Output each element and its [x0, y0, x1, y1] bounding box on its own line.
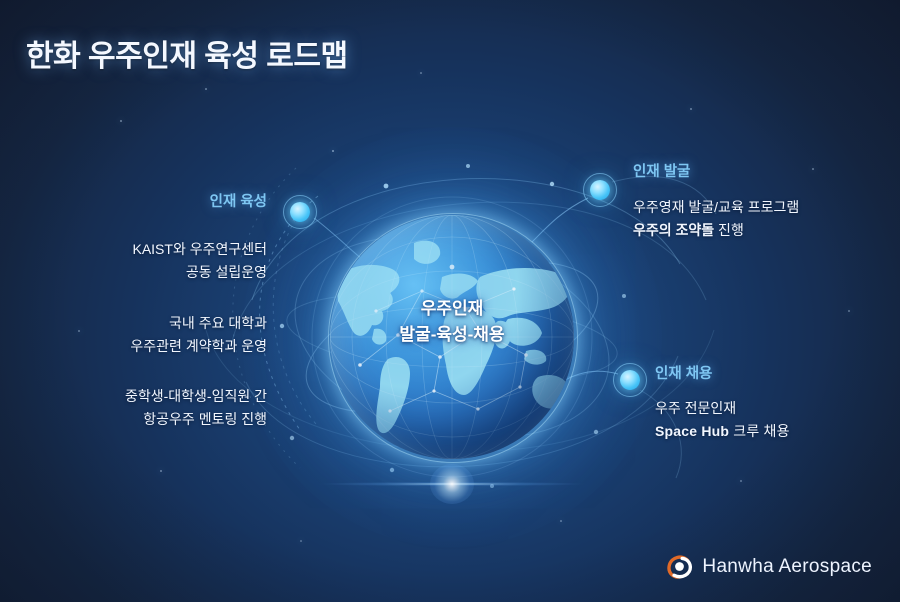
brand-logo-text: Hanwha Aerospace: [702, 556, 872, 578]
globe-center-line1: 우주인재: [399, 296, 504, 322]
development-item-university: 국내 주요 대학과 우주관련 계약학과 운영: [130, 312, 267, 357]
hiring-program-name: Space Hub: [655, 423, 729, 439]
discovery-line2-suffix: 진행: [714, 222, 744, 238]
lens-flare-core: [430, 464, 474, 504]
development-item-kaist-line2: 공동 설립운영: [132, 261, 267, 284]
development-item-university-line2: 우주관련 계약학과 운영: [130, 335, 267, 358]
globe-center-label: 우주인재 발굴-육성-채용: [399, 296, 504, 347]
hiring-line2: Space Hub 크루 채용: [655, 420, 790, 443]
development-item-kaist-line1: KAIST와 우주연구센터: [132, 238, 267, 261]
lens-flare-streak: [318, 476, 586, 492]
development-item-mentoring: 중학생-대학생-임직원 간 항공우주 멘토링 진행: [125, 385, 267, 430]
marker-dot: [290, 202, 310, 222]
section-heading-discovery: 인재 발굴: [633, 160, 799, 181]
brand-logo: Hanwha Aerospace: [666, 553, 872, 580]
hanwha-swirl-icon: [666, 553, 693, 580]
marker-dot: [620, 370, 640, 390]
hiring-line2-suffix: 크루 채용: [729, 423, 790, 439]
section-heading-development: 인재 육성: [210, 190, 267, 211]
discovery-program-name: 우주의 조약돌: [633, 222, 714, 238]
section-talent-hiring: 인재 채용 우주 전문인재 Space Hub 크루 채용: [655, 362, 790, 442]
development-item-kaist: KAIST와 우주연구센터 공동 설립운영: [132, 238, 267, 283]
page-title: 한화 우주인재 육성 로드맵: [26, 31, 348, 75]
development-item-mentoring-line1: 중학생-대학생-임직원 간: [125, 385, 267, 408]
globe-center-line2: 발굴-육성-채용: [399, 322, 504, 348]
section-heading-hiring: 인재 채용: [655, 362, 790, 383]
development-item-university-line1: 국내 주요 대학과: [130, 312, 267, 335]
marker-develop[interactable]: [283, 195, 317, 229]
marker-discover[interactable]: [583, 173, 617, 207]
marker-hire[interactable]: [613, 363, 647, 397]
marker-dot: [590, 180, 610, 200]
section-talent-development: 인재 육성: [210, 190, 267, 235]
infographic-poster: 한화 우주인재 육성 로드맵 우주인재 발굴-육성-채용 인재 육성 KAIST…: [0, 0, 900, 602]
development-item-mentoring-line2: 항공우주 멘토링 진행: [125, 408, 267, 431]
hiring-line1: 우주 전문인재: [655, 397, 790, 420]
discovery-line1: 우주영재 발굴/교육 프로그램: [633, 196, 799, 219]
section-talent-discovery: 인재 발굴 우주영재 발굴/교육 프로그램 우주의 조약돌 진행: [633, 160, 799, 241]
discovery-line2: 우주의 조약돌 진행: [633, 219, 799, 242]
